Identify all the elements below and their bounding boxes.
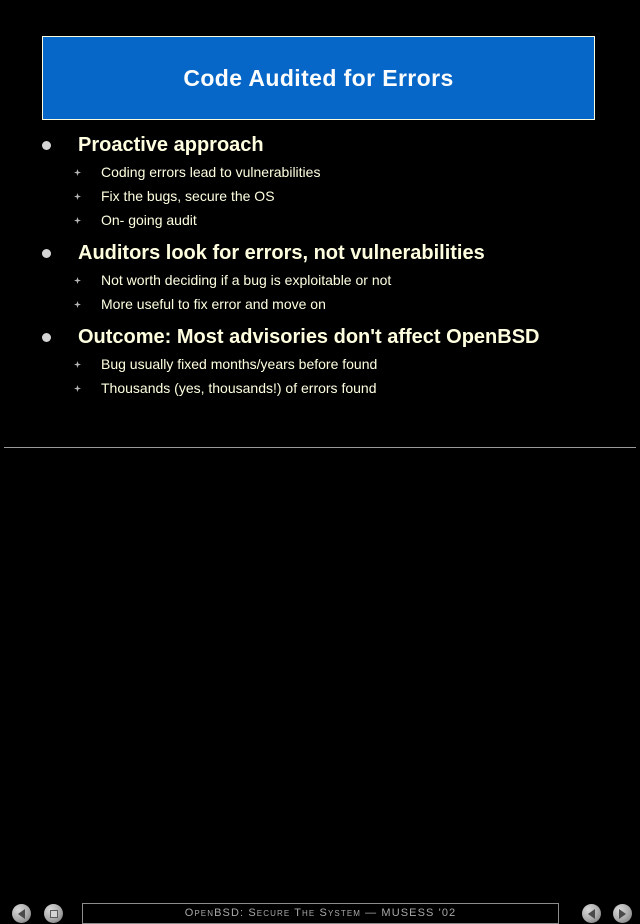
bullet-level1-label: Auditors look for errors, not vulnerabil… xyxy=(78,243,485,263)
page-title: Code Audited for Errors xyxy=(183,67,453,90)
bullet-level2: Coding errors lead to vulnerabilities xyxy=(0,160,640,184)
square-icon xyxy=(50,910,58,918)
bullet-level2-label: Fix the bugs, secure the OS xyxy=(101,189,275,203)
footer-bar: OpenBSD: Secure The System — MUSESS '02 xyxy=(0,449,640,480)
bullet-level1: Proactive approach xyxy=(0,130,640,160)
bullet-diamond-icon xyxy=(74,361,81,368)
bullet-level2: Not worth deciding if a bug is exploitab… xyxy=(0,268,640,292)
bullet-diamond-icon xyxy=(74,277,81,284)
bullet-level2: Thousands (yes, thousands!) of errors fo… xyxy=(0,376,640,400)
bullet-diamond-icon xyxy=(74,385,81,392)
bullet-level2-label: More useful to fix error and move on xyxy=(101,297,326,311)
bullet-level2: Bug usually fixed months/years before fo… xyxy=(0,352,640,376)
bullet-diamond-icon xyxy=(74,169,81,176)
bullet-diamond-icon xyxy=(74,301,81,308)
bullet-level2-label: On- going audit xyxy=(101,213,197,227)
bullet-level1-label: Proactive approach xyxy=(78,135,264,155)
footer-title-box: OpenBSD: Secure The System — MUSESS '02 xyxy=(82,903,559,924)
presentation-title: OpenBSD: Secure The System — MUSESS '02 xyxy=(185,908,457,919)
bullet-level2: More useful to fix error and move on xyxy=(0,292,640,316)
bullet-level2-label: Not worth deciding if a bug is exploitab… xyxy=(101,273,391,287)
bullet-level2-label: Coding errors lead to vulnerabilities xyxy=(101,165,320,179)
triangle-left-icon xyxy=(588,909,595,919)
slide-canvas: Code Audited for Errors Proactive approa… xyxy=(0,0,640,480)
footer-divider xyxy=(4,447,636,448)
bullet-level1-label: Outcome: Most advisories don't affect Op… xyxy=(78,327,539,347)
slide-title-banner: Code Audited for Errors xyxy=(42,36,595,120)
bullet-level1: Auditors look for errors, not vulnerabil… xyxy=(0,238,640,268)
next-slide-button[interactable] xyxy=(613,904,632,923)
bullet-level2: Fix the bugs, secure the OS xyxy=(0,184,640,208)
bullet-diamond-icon xyxy=(74,193,81,200)
first-slide-button[interactable] xyxy=(12,904,31,923)
triangle-left-icon xyxy=(18,909,25,919)
bullet-level2: On- going audit xyxy=(0,208,640,232)
slide-index-button[interactable] xyxy=(44,904,63,923)
slide-body: Proactive approach Coding errors lead to… xyxy=(0,130,640,400)
bullet-disc-icon xyxy=(42,141,51,150)
bullet-level1: Outcome: Most advisories don't affect Op… xyxy=(0,322,640,352)
bullet-diamond-icon xyxy=(74,217,81,224)
previous-slide-button[interactable] xyxy=(582,904,601,923)
bullet-disc-icon xyxy=(42,249,51,258)
bullet-level2-label: Bug usually fixed months/years before fo… xyxy=(101,357,377,371)
bullet-level2-label: Thousands (yes, thousands!) of errors fo… xyxy=(101,381,376,395)
bullet-disc-icon xyxy=(42,333,51,342)
triangle-right-icon xyxy=(619,909,626,919)
